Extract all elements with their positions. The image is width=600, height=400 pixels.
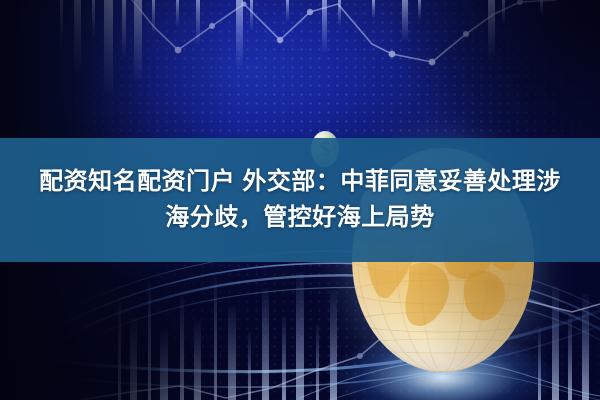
- news-banner-image: $: [0, 0, 600, 400]
- title-line-2: 海分歧，管控好海上局势: [165, 200, 435, 236]
- candlestick-group-top: [60, 0, 543, 92]
- title-line-1: 配资知名配资门户 外交部：中菲同意妥善处理涉: [39, 164, 561, 200]
- title-banner: 配资知名配资门户 外交部：中菲同意妥善处理涉 海分歧，管控好海上局势: [0, 138, 600, 262]
